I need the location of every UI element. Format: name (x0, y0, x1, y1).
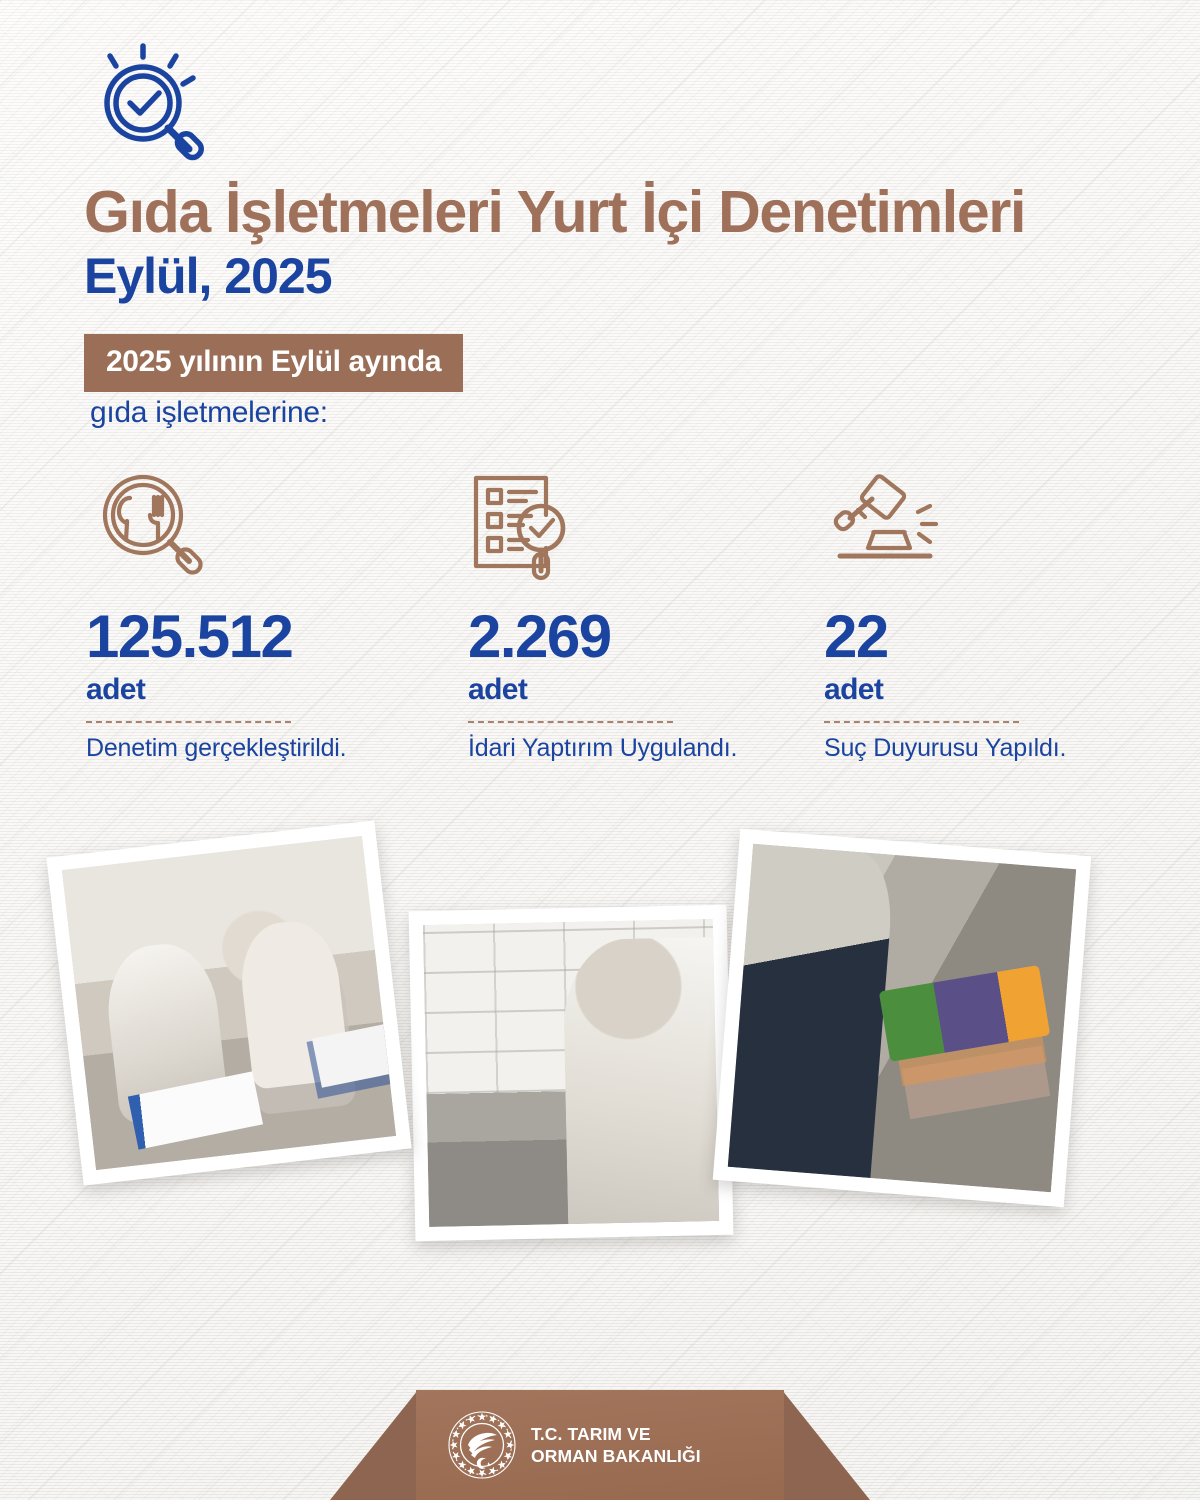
stat-card-denetim: 125.512 adet Denetim gerçekleştirildi. (86, 470, 416, 765)
ministry-emblem-icon (446, 1409, 518, 1481)
stat-divider (824, 721, 1019, 723)
stat-caption: Suç Duyurusu Yapıldı. (824, 733, 1154, 765)
stat-card-idari-yaptirim: 2.269 adet İdari Yaptırım Uygulandı. (468, 470, 798, 765)
subtitle-line: gıda işletmelerine: (90, 396, 328, 430)
ribbon-fold-right (782, 1390, 870, 1500)
stat-card-suc-duyurusu: 22 adet Suç Duyurusu Yapıldı. (824, 470, 1154, 765)
magnifier-check-icon (88, 40, 218, 170)
title-line-primary: Gıda İşletmeleri Yurt İçi Denetimleri (84, 182, 1174, 243)
plate-cutlery-magnifier-icon (86, 470, 416, 585)
stat-number: 2.269 (468, 607, 798, 667)
stat-unit: adet (824, 675, 1154, 705)
stat-caption: Denetim gerçekleştirildi. (86, 733, 416, 765)
subtitle-band: 2025 yılının Eylül ayında (84, 334, 463, 392)
footer-ribbon: T.C. TARIM VE ORMAN BAKANLIĞI (0, 1390, 1200, 1500)
stats-row: 125.512 adet Denetim gerçekleştirildi. (0, 470, 1200, 830)
photo-inspectors-clipboard (46, 820, 411, 1185)
stat-number: 125.512 (86, 607, 416, 667)
ribbon-fold-left (330, 1390, 418, 1500)
page-title: Gıda İşletmeleri Yurt İçi Denetimleri Ey… (84, 182, 1174, 304)
photo-collage (0, 830, 1200, 1270)
infographic-page: Gıda İşletmeleri Yurt İçi Denetimleri Ey… (0, 0, 1200, 1500)
gavel-icon (824, 470, 1154, 585)
stat-caption: İdari Yaptırım Uygulandı. (468, 733, 798, 765)
stat-unit: adet (468, 675, 798, 705)
photo-inspector-equipment (409, 905, 734, 1242)
stat-unit: adet (86, 675, 416, 705)
ministry-branding: T.C. TARIM VE ORMAN BAKANLIĞI (416, 1390, 784, 1500)
title-line-period: Eylül, 2025 (84, 249, 1174, 304)
stat-divider (86, 721, 291, 723)
stat-divider (468, 721, 673, 723)
photo-inspector-product (713, 829, 1092, 1208)
stat-number: 22 (824, 607, 1154, 667)
checklist-magnifier-icon (468, 470, 798, 585)
ministry-name: T.C. TARIM VE ORMAN BAKANLIĞI (531, 1423, 701, 1468)
